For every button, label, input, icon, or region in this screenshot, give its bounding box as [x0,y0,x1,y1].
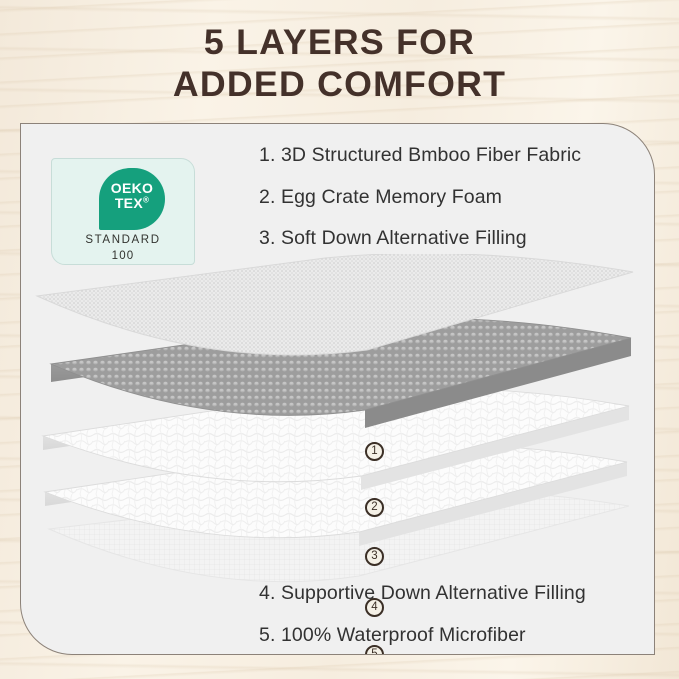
callout-3: 3 [365,547,384,566]
callout-5: 5 [365,645,384,655]
feature-item-2: 2. Egg Crate Memory Foam [259,188,581,208]
callout-2: 2 [365,498,384,517]
feature-item-3: 3. Soft Down Alternative Filling [259,229,581,249]
title-line-1: 5 LAYERS FOR [0,22,679,64]
feature-list-top: 1. 3D Structured Bmboo Fiber Fabric 2. E… [259,146,581,249]
feature-item-5: 5. 100% Waterproof Microfiber [259,626,586,646]
oeko-tex-badge: OEKO TEX® STANDARD 100 [51,158,195,265]
title-line-2: ADDED COMFORT [0,64,679,106]
oeko-tex-droplet-icon: OEKO TEX® [99,168,165,230]
oeko-tex-logo-text: OEKO TEX® [99,181,165,211]
tex-text: TEX [115,195,143,211]
layer-stack-diagram: 1 2 3 4 5 [29,254,649,624]
standard-label: STANDARD [85,234,160,246]
registered-mark: ® [143,195,149,204]
feature-list-bottom: 4. Supportive Down Alternative Filling 5… [259,584,586,645]
page-title: 5 LAYERS FOR ADDED COMFORT [0,22,679,105]
info-card: OEKO TEX® STANDARD 100 1. 3D Structured … [20,123,655,655]
feature-item-4: 4. Supportive Down Alternative Filling [259,584,586,604]
oeko-text: OEKO [111,180,153,196]
feature-item-1: 1. 3D Structured Bmboo Fiber Fabric [259,146,581,166]
callout-1: 1 [365,442,384,461]
